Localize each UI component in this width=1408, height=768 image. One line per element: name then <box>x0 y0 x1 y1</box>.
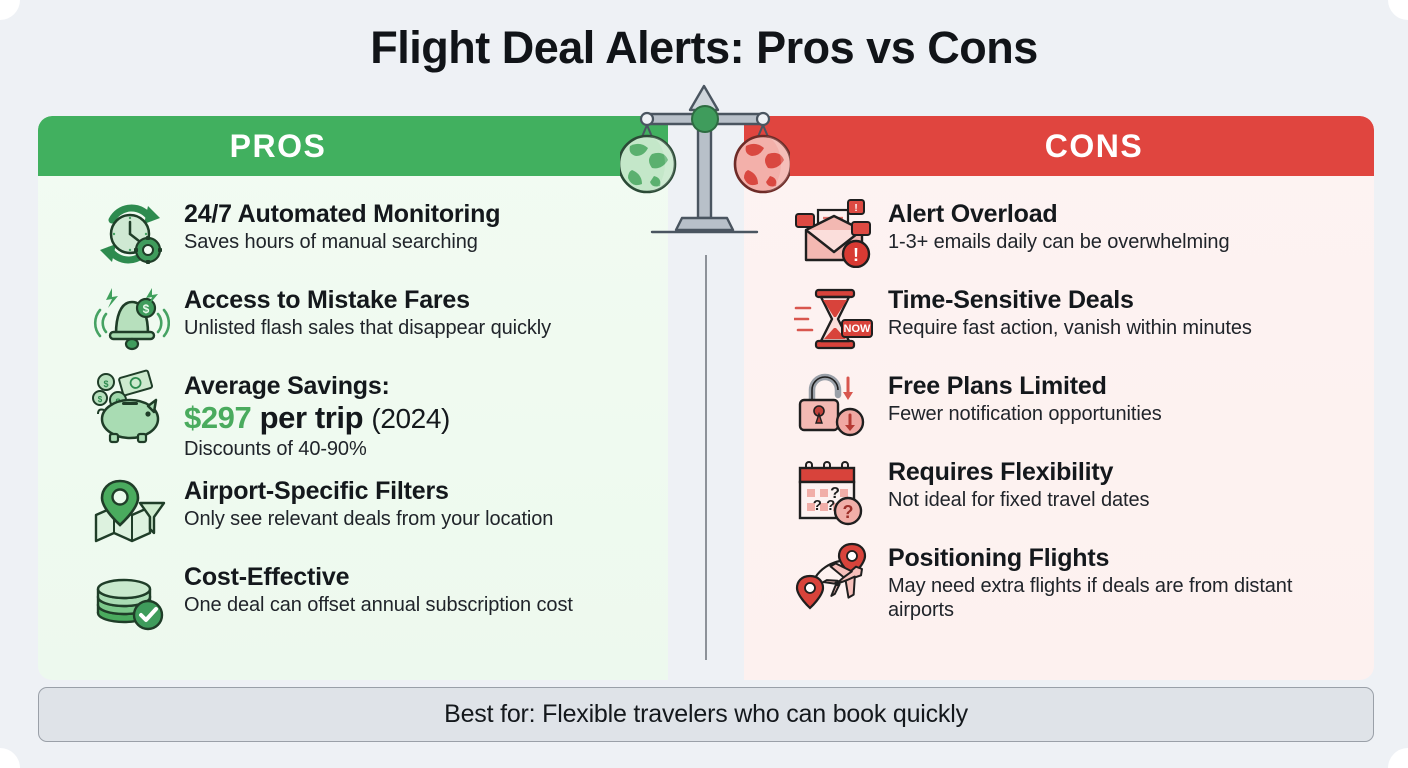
now-badge-label: NOW <box>844 323 872 335</box>
page-title: Flight Deal Alerts: Pros vs Cons <box>0 22 1408 74</box>
svg-text:$: $ <box>103 379 108 389</box>
infographic-page: Flight Deal Alerts: Pros vs Cons PROS <box>0 0 1408 768</box>
list-item-desc: Only see relevant deals from your locati… <box>184 507 650 531</box>
list-item-title: Airport-Specific Filters <box>184 477 650 505</box>
savings-suffix: per trip <box>260 400 364 435</box>
calendar-question-icon: ? ? ? ? <box>792 454 876 528</box>
savings-year: (2024) <box>371 403 450 434</box>
list-item: Free Plans Limited Fewer notification op… <box>744 362 1374 448</box>
cons-panel: CONS <box>744 116 1374 680</box>
svg-text:!: ! <box>853 245 859 265</box>
cons-header: CONS <box>744 116 1374 176</box>
list-item-title: Positioning Flights <box>888 544 1356 572</box>
center-divider <box>705 255 707 660</box>
list-item-text: Free Plans Limited Fewer notification op… <box>888 368 1356 426</box>
list-item-title: Access to Mistake Fares <box>184 286 650 314</box>
list-item-text: Positioning Flights May need extra fligh… <box>888 540 1356 623</box>
list-item-desc: One deal can offset annual subscription … <box>184 593 650 617</box>
list-item-desc: 1-3+ emails daily can be overwhelming <box>888 230 1356 254</box>
list-item: NOW Time-Sensitive Deals Require fast ac… <box>744 276 1374 362</box>
page-corner-bottom-left <box>0 748 20 768</box>
unlocked-padlock-down-arrow-icon <box>792 368 876 442</box>
savings-line: $297 per trip (2024) <box>184 401 650 435</box>
list-item-title: Free Plans Limited <box>888 372 1356 400</box>
list-item-text: Average Savings: $297 per trip (2024) Di… <box>184 368 650 461</box>
list-item-desc: Not ideal for fixed travel dates <box>888 488 1356 512</box>
list-item: Airport-Specific Filters Only see releva… <box>38 467 668 553</box>
list-item-desc: Require fast action, vanish within minut… <box>888 316 1356 340</box>
list-item-text: Time-Sensitive Deals Require fast action… <box>888 282 1356 340</box>
cons-item-list: ! ! Alert Overload 1-3+ emails daily can… <box>744 176 1374 629</box>
list-item-text: Alert Overload 1-3+ emails daily can be … <box>888 196 1356 254</box>
list-item-text: Cost-Effective One deal can offset annua… <box>184 559 650 617</box>
svg-text:? ?: ? ? <box>813 497 836 514</box>
list-item-desc: Unlisted flash sales that disappear quic… <box>184 316 650 340</box>
list-item-text: Access to Mistake Fares Unlisted flash s… <box>184 282 650 340</box>
list-item: 24/7 Automated Monitoring Saves hours of… <box>38 190 668 276</box>
coin-stack-check-icon <box>88 559 172 633</box>
page-corner-top-right <box>1388 0 1408 20</box>
page-corner-top-left <box>0 0 20 20</box>
svg-text:!: ! <box>854 203 857 214</box>
list-item-desc: May need extra flights if deals are from… <box>888 574 1356 623</box>
list-item-title: Cost-Effective <box>184 563 650 591</box>
page-corner-bottom-right <box>1388 748 1408 768</box>
list-item-desc: Saves hours of manual searching <box>184 230 650 254</box>
piggy-bank-money-icon: $ $ $ <box>88 368 172 442</box>
clock-refresh-gear-icon <box>88 196 172 270</box>
list-item-title: Alert Overload <box>888 200 1356 228</box>
list-item-text: Requires Flexibility Not ideal for fixed… <box>888 454 1356 512</box>
pros-panel: PROS <box>38 116 668 680</box>
footer-banner: Best for: Flexible travelers who can boo… <box>38 687 1374 742</box>
plane-route-pins-icon <box>792 540 876 614</box>
hourglass-now-icon: NOW <box>792 282 876 356</box>
savings-amount: $297 <box>184 400 251 435</box>
list-item-title: Average Savings: <box>184 372 650 400</box>
email-alert-overload-icon: ! ! <box>792 196 876 270</box>
list-item: ! ! Alert Overload 1-3+ emails daily can… <box>744 190 1374 276</box>
list-item-text: Airport-Specific Filters Only see releva… <box>184 473 650 531</box>
list-item: $ $ $ Average Saving <box>38 362 668 467</box>
list-item-title: 24/7 Automated Monitoring <box>184 200 650 228</box>
list-item: ? ? ? ? Requires Flexibility Not ideal f… <box>744 448 1374 534</box>
list-item-text: 24/7 Automated Monitoring Saves hours of… <box>184 196 650 254</box>
balance-scale-icon <box>620 84 790 236</box>
map-pin-funnel-icon <box>88 473 172 547</box>
list-item: $ Access to Mistake Fares Unlisted flas <box>38 276 668 362</box>
list-item-desc: Fewer notification opportunities <box>888 402 1356 426</box>
svg-text:?: ? <box>843 502 854 522</box>
ringing-bell-dollar-icon: $ <box>88 282 172 356</box>
svg-text:$: $ <box>143 302 150 316</box>
list-item-title: Time-Sensitive Deals <box>888 286 1356 314</box>
list-item: Positioning Flights May need extra fligh… <box>744 534 1374 629</box>
list-item-title: Requires Flexibility <box>888 458 1356 486</box>
pros-header-label: PROS <box>230 128 327 165</box>
pros-item-list: 24/7 Automated Monitoring Saves hours of… <box>38 176 668 639</box>
cons-header-label: CONS <box>1045 128 1143 165</box>
footer-text: Best for: Flexible travelers who can boo… <box>444 700 968 729</box>
pros-header: PROS <box>38 116 668 176</box>
svg-text:$: $ <box>98 395 103 404</box>
list-item: Cost-Effective One deal can offset annua… <box>38 553 668 639</box>
list-item-desc: Discounts of 40-90% <box>184 437 650 461</box>
